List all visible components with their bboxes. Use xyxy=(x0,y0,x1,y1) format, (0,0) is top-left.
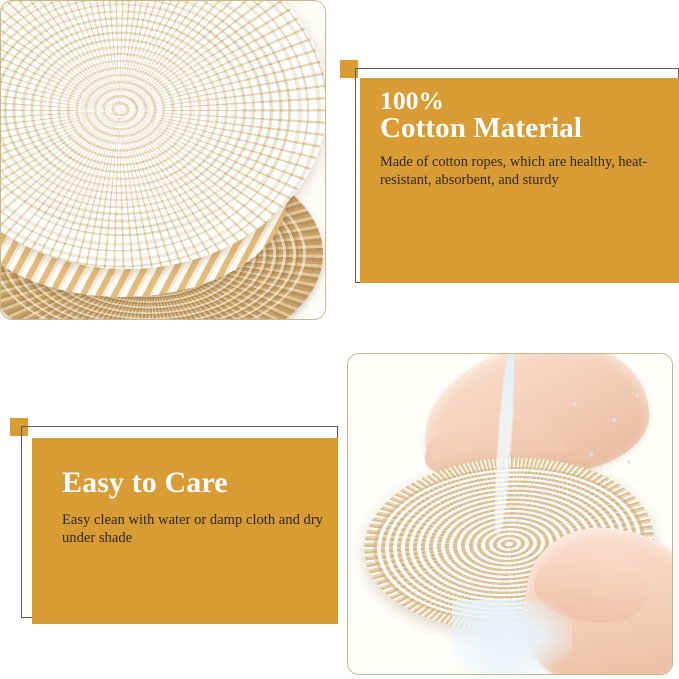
card-heading: Easy to Care xyxy=(62,468,327,499)
card-description: Made of cotton ropes, which are healthy,… xyxy=(380,153,670,189)
infographic-canvas: 100%Cotton Material Made of cotton ropes… xyxy=(0,0,679,679)
water-splash xyxy=(452,600,572,675)
card-text-block: 100%Cotton Material Made of cotton ropes… xyxy=(380,88,670,278)
card-heading: 100%Cotton Material xyxy=(380,88,670,144)
feature-card-easy-to-care: Easy to Care Easy clean with water or da… xyxy=(8,416,338,624)
card-text-block: Easy to Care Easy clean with water or da… xyxy=(62,468,327,608)
stacked-trivets-scene xyxy=(1,1,325,319)
washing-trivet-scene xyxy=(348,354,672,674)
card-heading-line-2: Cotton Material xyxy=(380,114,670,144)
card-description: Easy clean with water or damp cloth and … xyxy=(62,511,327,548)
card-heading-line-1: 100% xyxy=(380,86,444,115)
washing-trivet-photo xyxy=(347,353,673,675)
feature-card-cotton-material: 100%Cotton Material Made of cotton ropes… xyxy=(338,58,679,288)
water-droplets xyxy=(554,384,658,484)
stacked-trivets-photo xyxy=(0,0,326,320)
